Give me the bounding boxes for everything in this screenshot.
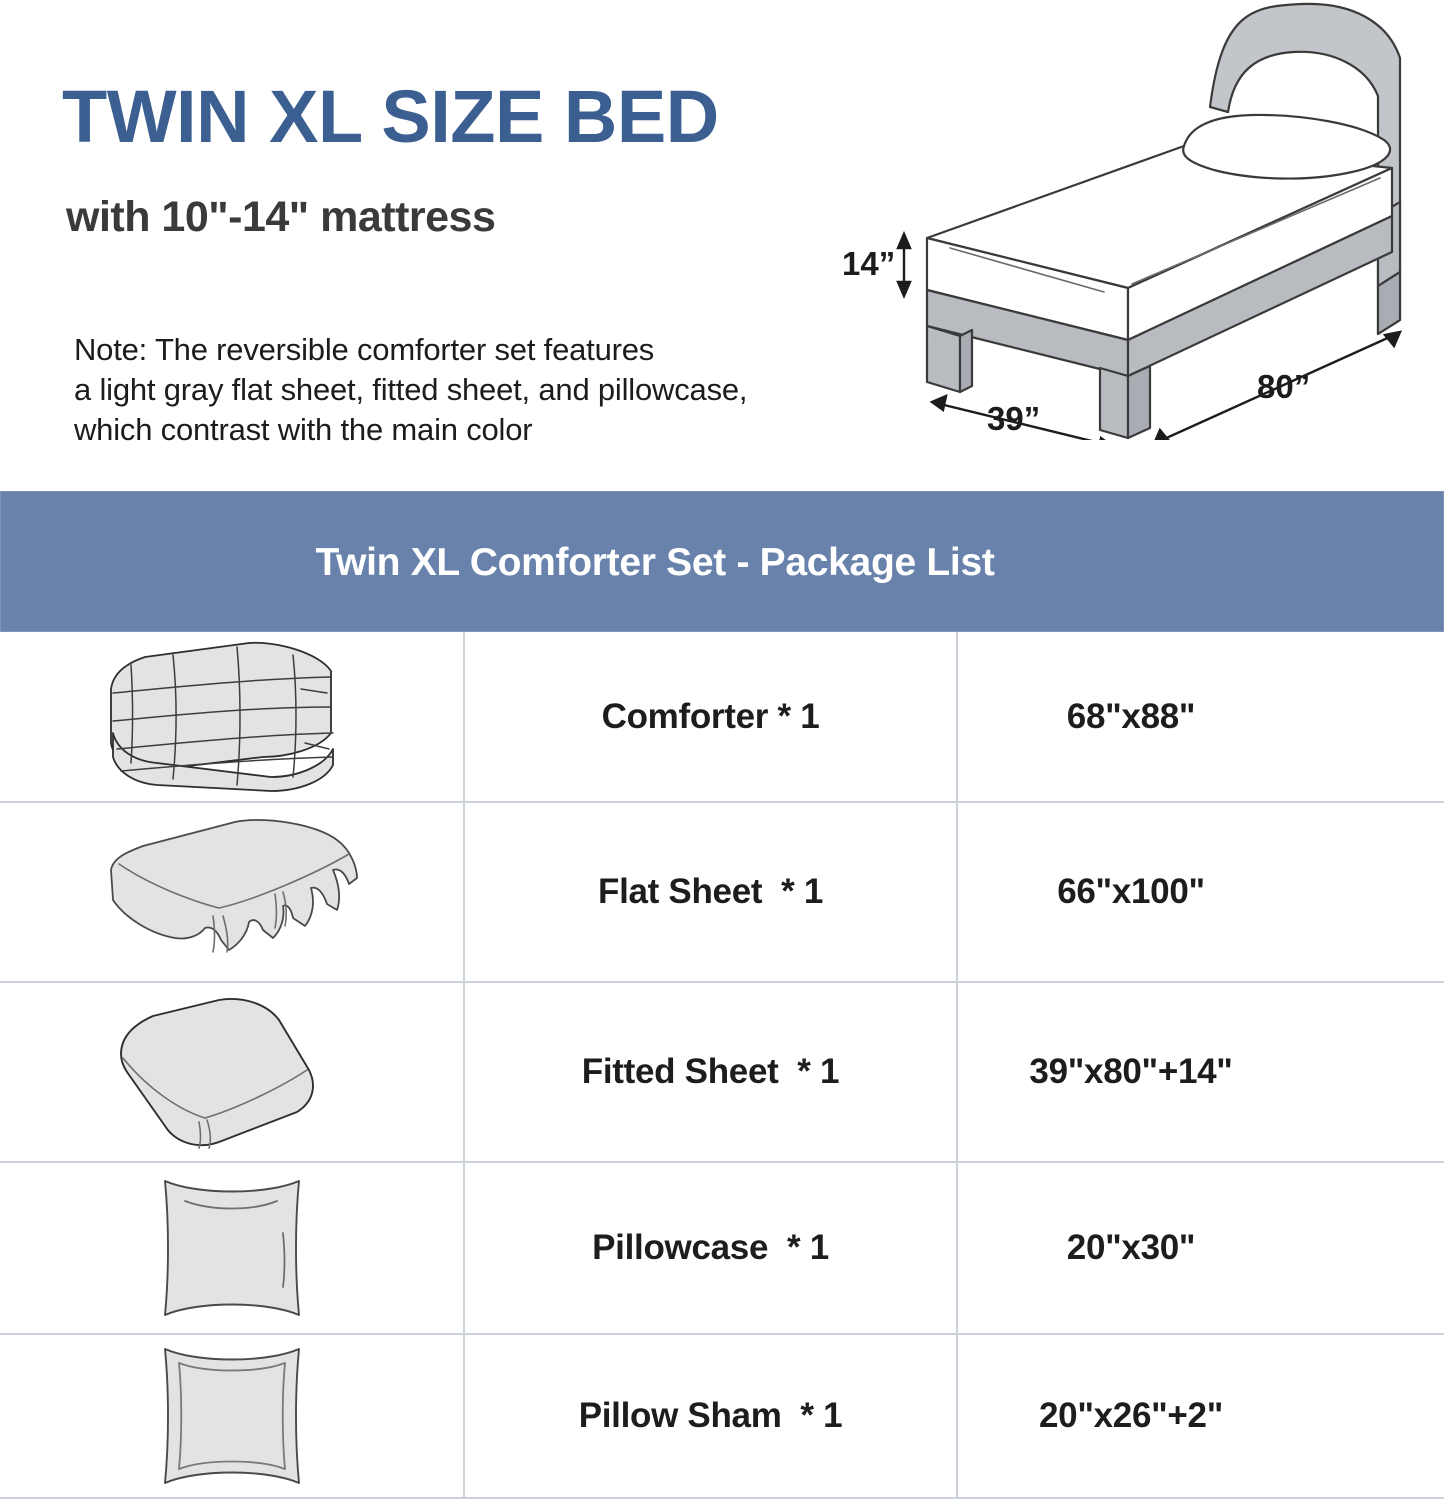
leg-front-inner (1128, 366, 1150, 438)
package-list-banner: Twin XL Comforter Set - Package List (0, 491, 1444, 632)
header-section: TWIN XL SIZE BED with 10"-14" mattress N… (0, 0, 1444, 491)
item-image-cell (0, 1335, 465, 1497)
bed-illustration-svg: 14” 39” 80” (832, 0, 1444, 440)
banner-title: Twin XL Comforter Set - Package List (1, 492, 1444, 633)
infographic-page: TWIN XL SIZE BED with 10"-14" mattress N… (0, 0, 1444, 1500)
table-row: Comforter * 1 68"x88" (0, 632, 1444, 803)
table-row: Fitted Sheet * 1 39"x80"+14" (0, 983, 1444, 1163)
item-image-cell (0, 803, 465, 981)
item-image-cell (0, 632, 465, 801)
item-size: 20"x26"+2" (958, 1335, 1444, 1497)
leg-front-outer (1100, 368, 1128, 438)
pillow (1183, 115, 1390, 179)
item-name: Pillowcase * 1 (465, 1163, 958, 1333)
bed-diagram: 14” 39” 80” (832, 0, 1444, 440)
item-image-cell (0, 983, 465, 1161)
page-title: TWIN XL SIZE BED (62, 78, 719, 156)
note-line-2: a light gray flat sheet, fitted sheet, a… (74, 370, 747, 410)
item-size: 68"x88" (958, 632, 1444, 801)
page-subtitle: with 10"-14" mattress (66, 192, 495, 242)
flat-sheet-icon (87, 812, 377, 972)
comforter-icon (87, 637, 377, 797)
note-line-1: Note: The reversible comforter set featu… (74, 330, 747, 370)
item-size: 39"x80"+14" (958, 983, 1444, 1161)
item-size: 66"x100" (958, 803, 1444, 981)
table-row: Pillowcase * 1 20"x30" (0, 1163, 1444, 1335)
dimension-height (898, 234, 910, 296)
item-size: 20"x30" (958, 1163, 1444, 1333)
table-row: Pillow Sham * 1 20"x26"+2" (0, 1335, 1444, 1499)
pillowcase-icon (87, 1173, 377, 1323)
item-name: Comforter * 1 (465, 632, 958, 801)
bed-height-label: 14” (842, 245, 895, 282)
bed-length-label: 80” (1257, 368, 1310, 405)
leg-left-inner (960, 330, 972, 392)
package-list-table: Comforter * 1 68"x88" (0, 632, 1444, 1499)
pillow-sham-icon (87, 1341, 377, 1491)
item-image-cell (0, 1163, 465, 1333)
item-name: Fitted Sheet * 1 (465, 983, 958, 1161)
bed-width-label: 39” (987, 400, 1040, 437)
note-text: Note: The reversible comforter set featu… (74, 330, 747, 450)
item-name: Flat Sheet * 1 (465, 803, 958, 981)
note-line-3: which contrast with the main color (74, 410, 747, 450)
item-name: Pillow Sham * 1 (465, 1335, 958, 1497)
leg-left-outer (927, 326, 960, 392)
table-row: Flat Sheet * 1 66"x100" (0, 803, 1444, 983)
fitted-sheet-icon (87, 992, 377, 1152)
